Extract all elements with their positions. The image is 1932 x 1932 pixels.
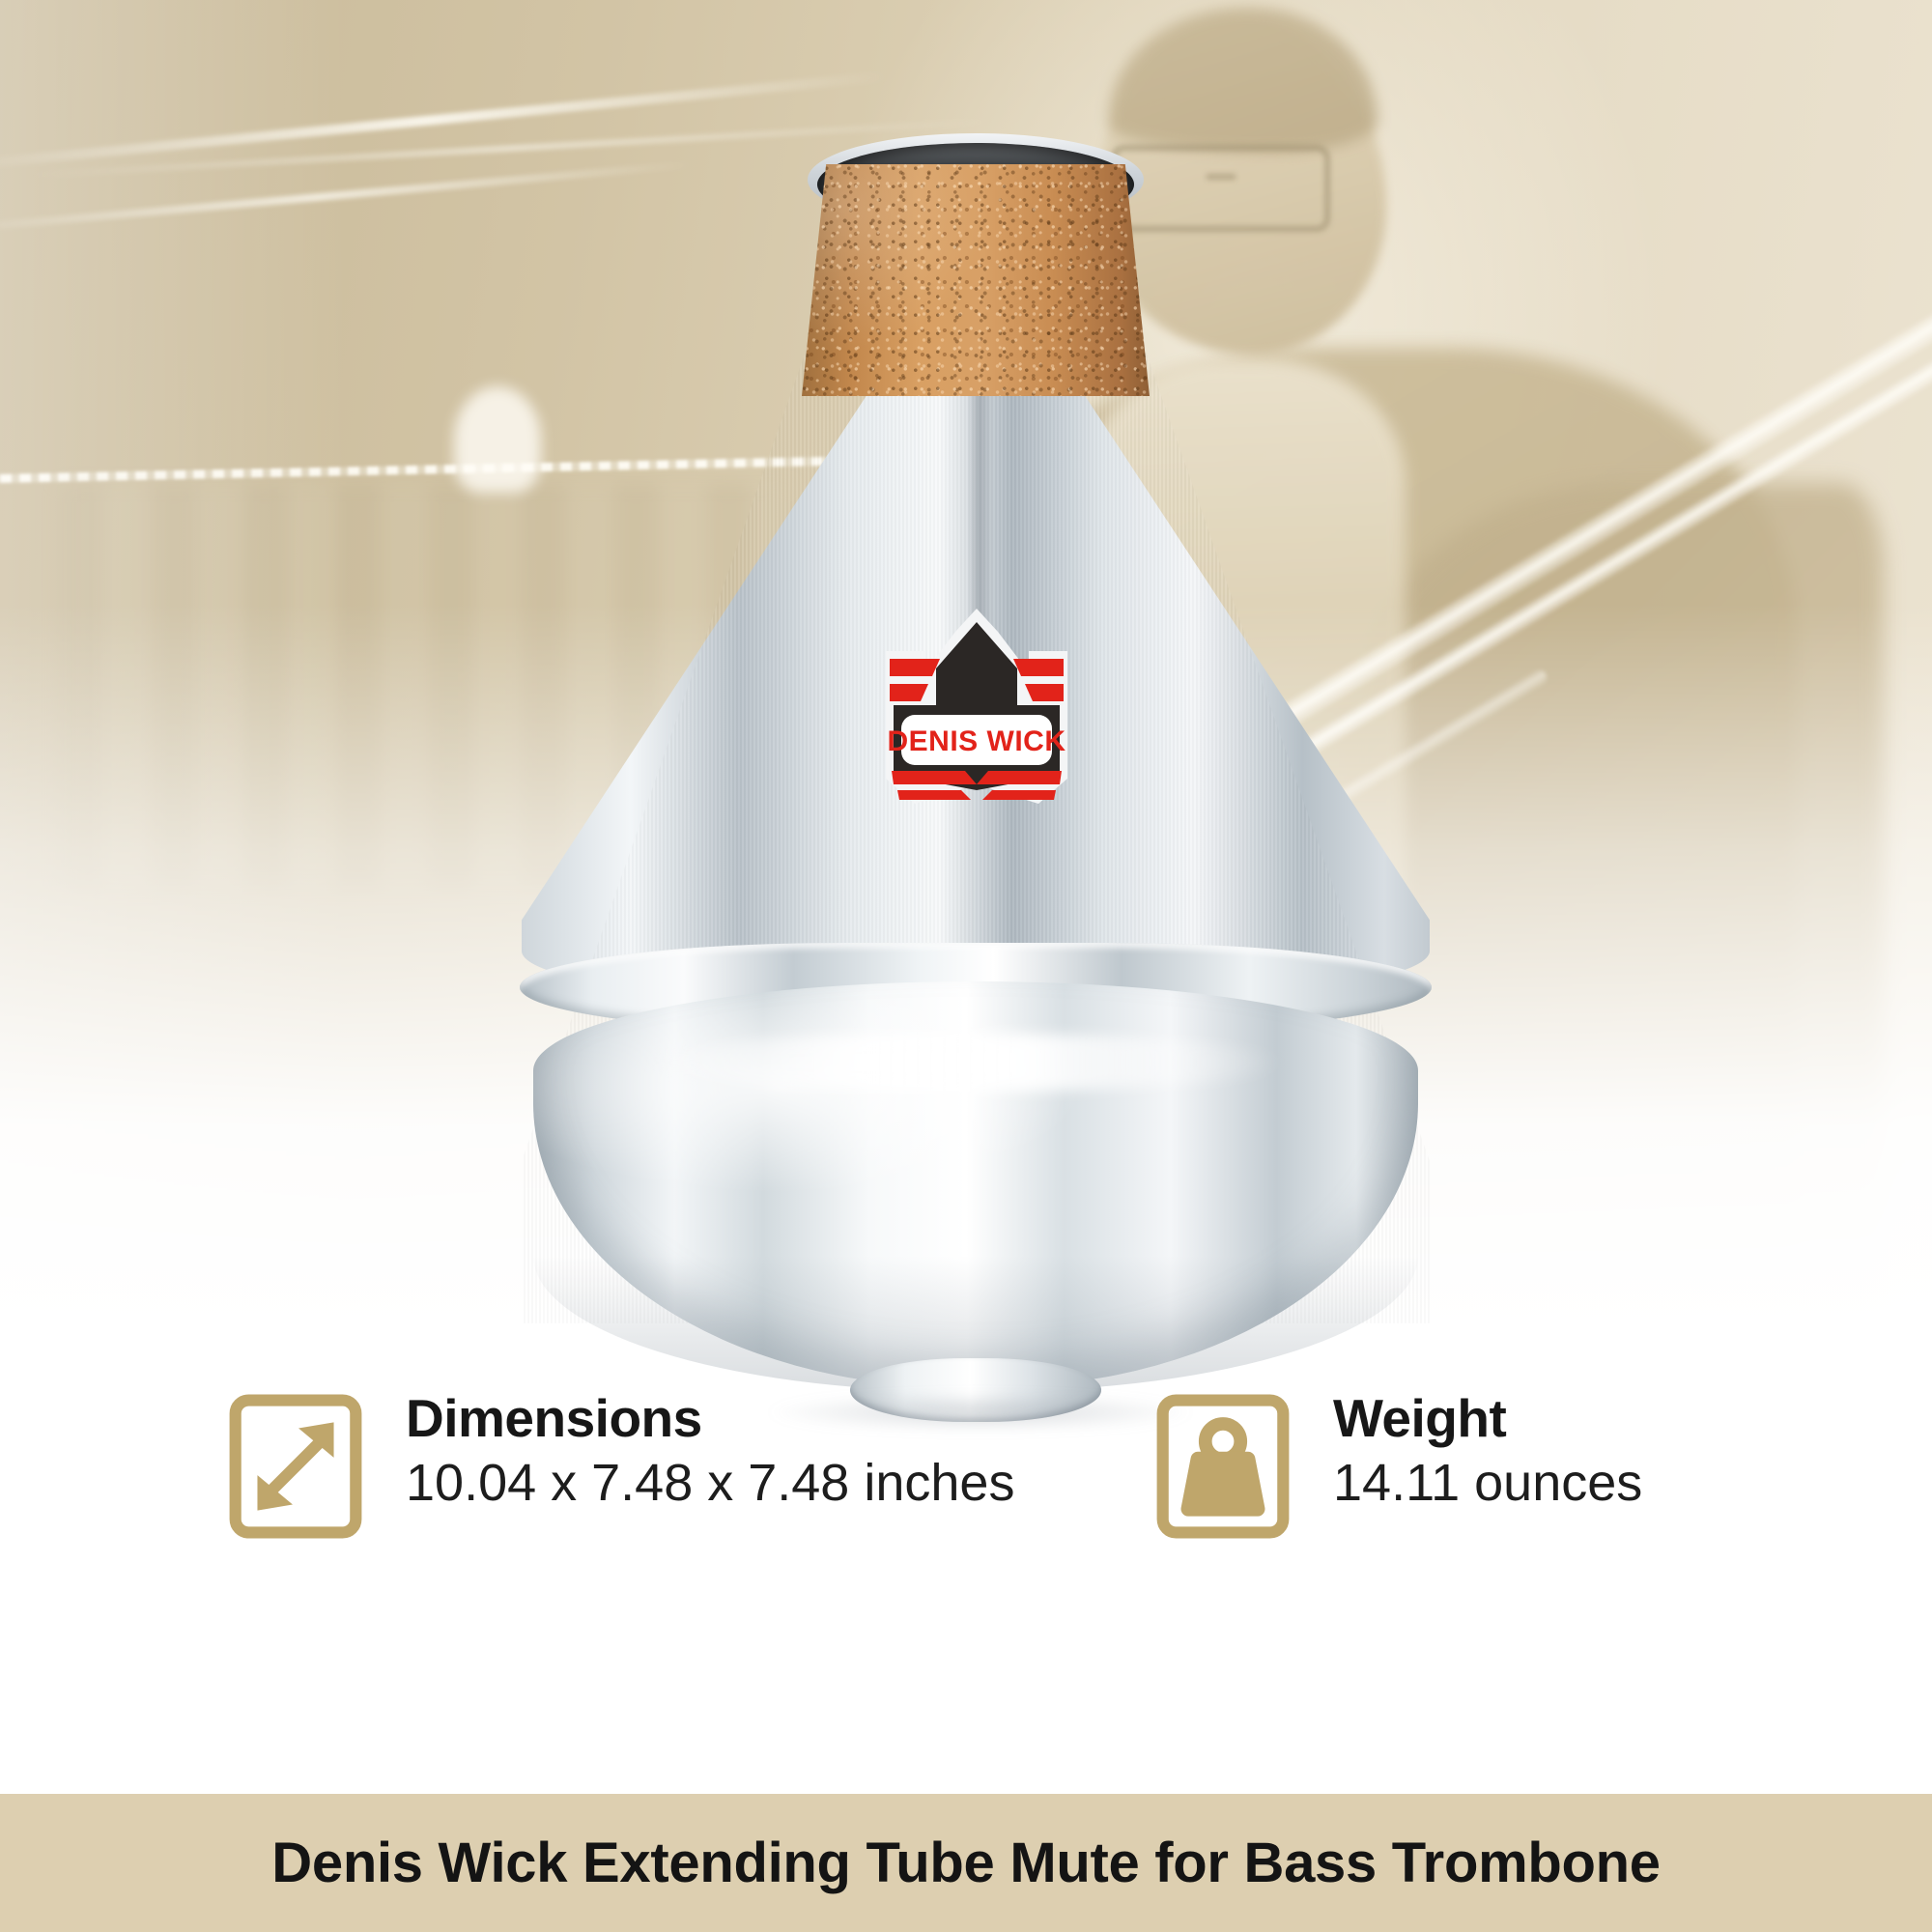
spec-dimensions-text: Dimensions 10.04 x 7.48 x 7.48 inches	[406, 1381, 1014, 1514]
spec-weight-value: 14.11 ounces	[1333, 1453, 1642, 1515]
denis-wick-logo-decal: DENIS WICK	[865, 609, 1089, 807]
product-infographic-page: DENIS WICK	[0, 0, 1932, 1932]
caption-banner: Denis Wick Extending Tube Mute for Bass …	[0, 1794, 1932, 1932]
spec-row: Dimensions 10.04 x 7.48 x 7.48 inches We…	[0, 1381, 1932, 1690]
weight-icon	[1150, 1393, 1296, 1540]
product-image-trombone-mute: DENIS WICK	[522, 164, 1430, 1323]
mute-cork-sleeve	[802, 164, 1150, 396]
logo-wordmark: DENIS WICK	[888, 725, 1066, 757]
mute-bulb-highlight	[647, 1034, 1285, 1092]
spec-dimensions-value: 10.04 x 7.48 x 7.48 inches	[406, 1453, 1014, 1515]
cork-grain-texture	[802, 164, 1150, 396]
spec-weight: Weight 14.11 ounces	[1150, 1381, 1642, 1540]
spec-weight-text: Weight 14.11 ounces	[1333, 1381, 1642, 1514]
product-title-caption: Denis Wick Extending Tube Mute for Bass …	[271, 1831, 1660, 1895]
dimensions-arrow-icon	[222, 1393, 369, 1540]
spec-dimensions-title: Dimensions	[406, 1389, 1014, 1449]
spec-dimensions: Dimensions 10.04 x 7.48 x 7.48 inches	[222, 1381, 1092, 1540]
spec-weight-title: Weight	[1333, 1389, 1642, 1449]
